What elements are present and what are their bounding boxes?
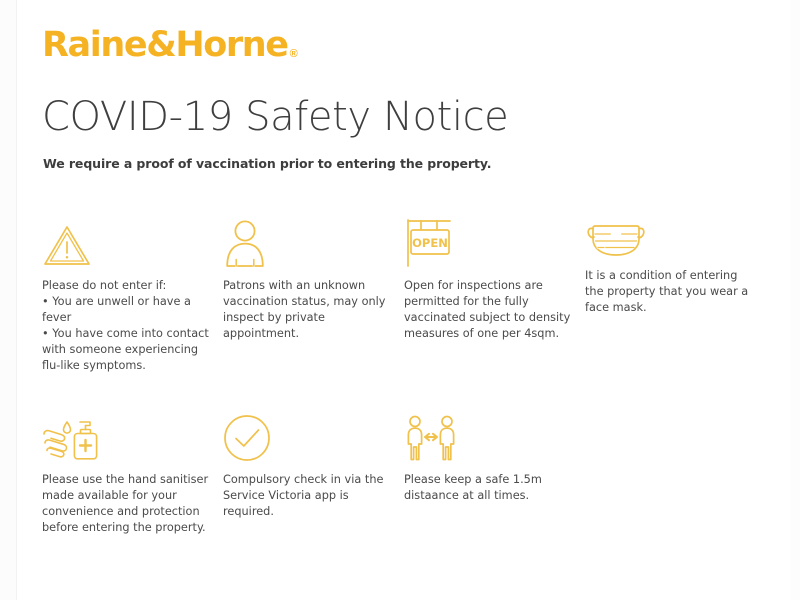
notice-item: Please do not enter if: • You are unwell…	[42, 214, 212, 374]
notice-text: Patrons with an unknown vaccination stat…	[223, 278, 393, 342]
notice-text: Please keep a safe 1.5m distaance at all…	[404, 472, 574, 504]
notice-item: Please use the hand sanitiser made avail…	[42, 408, 212, 536]
notice-grid-row-1: Please do not enter if: • You are unwell…	[42, 214, 780, 374]
page-subtitle: We require a proof of vaccination prior …	[43, 156, 491, 171]
page-title: COVID-19 Safety Notice	[42, 96, 508, 138]
notice-text: Please use the hand sanitiser made avail…	[42, 472, 212, 536]
page-right-edge	[790, 0, 800, 600]
notice-text: Open for inspections are permitted for t…	[404, 278, 574, 342]
notice-item: Compulsory check in via the Service Vict…	[223, 408, 393, 536]
social-distance-icon	[404, 408, 574, 462]
warning-triangle-icon	[42, 214, 212, 268]
face-mask-icon	[585, 214, 755, 268]
page-left-edge	[0, 0, 17, 600]
notice-grid-row-2: Please use the hand sanitiser made avail…	[42, 408, 780, 536]
hand-sanitiser-icon	[42, 408, 212, 462]
notice-item: It is a condition of entering the proper…	[585, 214, 755, 374]
notice-text: Please do not enter if: • You are unwell…	[42, 278, 212, 374]
notice-item: OPEN Open for inspections are permitted …	[404, 214, 574, 374]
safety-notice-page: Raine&Horne ® COVID-19 Safety Notice We …	[0, 0, 800, 600]
notice-text: It is a condition of entering the proper…	[585, 268, 755, 316]
notice-item: Patrons with an unknown vaccination stat…	[223, 214, 393, 374]
open-sign-label: OPEN	[412, 236, 448, 250]
notice-item-empty	[585, 408, 766, 536]
person-icon	[223, 214, 393, 268]
page-content: Raine&Horne ® COVID-19 Safety Notice We …	[42, 0, 780, 600]
registered-trademark-icon: ®	[290, 48, 298, 60]
notice-text: Compulsory check in via the Service Vict…	[223, 472, 393, 520]
brand-name: Raine&Horne	[42, 28, 288, 63]
open-sign-icon: OPEN	[404, 214, 574, 268]
notice-item: Please keep a safe 1.5m distaance at all…	[404, 408, 574, 536]
brand-logo: Raine&Horne ®	[42, 28, 298, 63]
check-circle-icon	[223, 408, 393, 462]
